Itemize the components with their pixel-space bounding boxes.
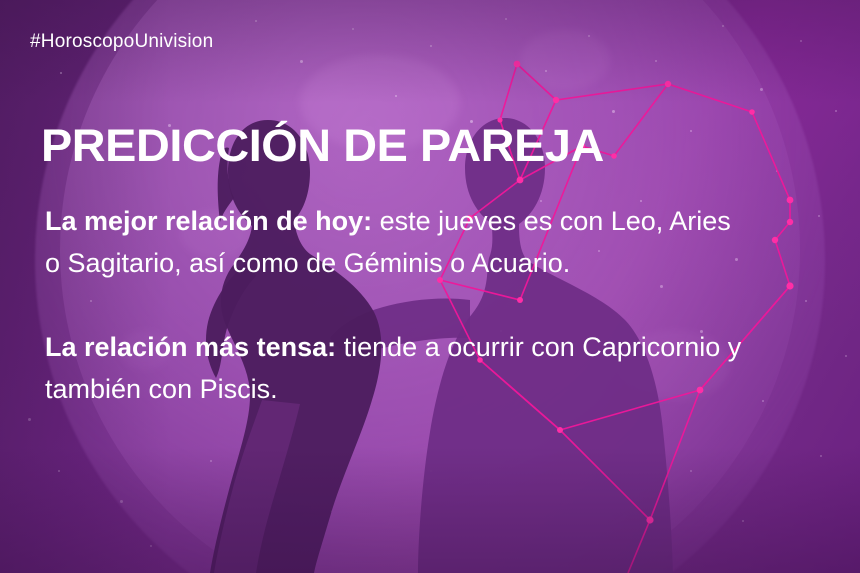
prediction-body: La mejor relación de hoy: este jueves es…	[45, 200, 775, 410]
paragraph-tense-match: La relación más tensa: tiende a ocurrir …	[45, 326, 745, 410]
page-title: PREDICCIÓN DE PAREJA	[41, 123, 604, 169]
paragraph-lead-best-match: La mejor relación de hoy:	[45, 206, 372, 236]
hashtag-label: #HoroscopoUnivision	[30, 31, 213, 53]
paragraph-lead-tense-match: La relación más tensa:	[45, 332, 336, 362]
paragraph-best-match: La mejor relación de hoy: este jueves es…	[45, 200, 745, 284]
text-content: #HoroscopoUnivision PREDICCIÓN DE PAREJA…	[0, 0, 860, 573]
horoscope-card: #HoroscopoUnivision PREDICCIÓN DE PAREJA…	[0, 0, 860, 573]
